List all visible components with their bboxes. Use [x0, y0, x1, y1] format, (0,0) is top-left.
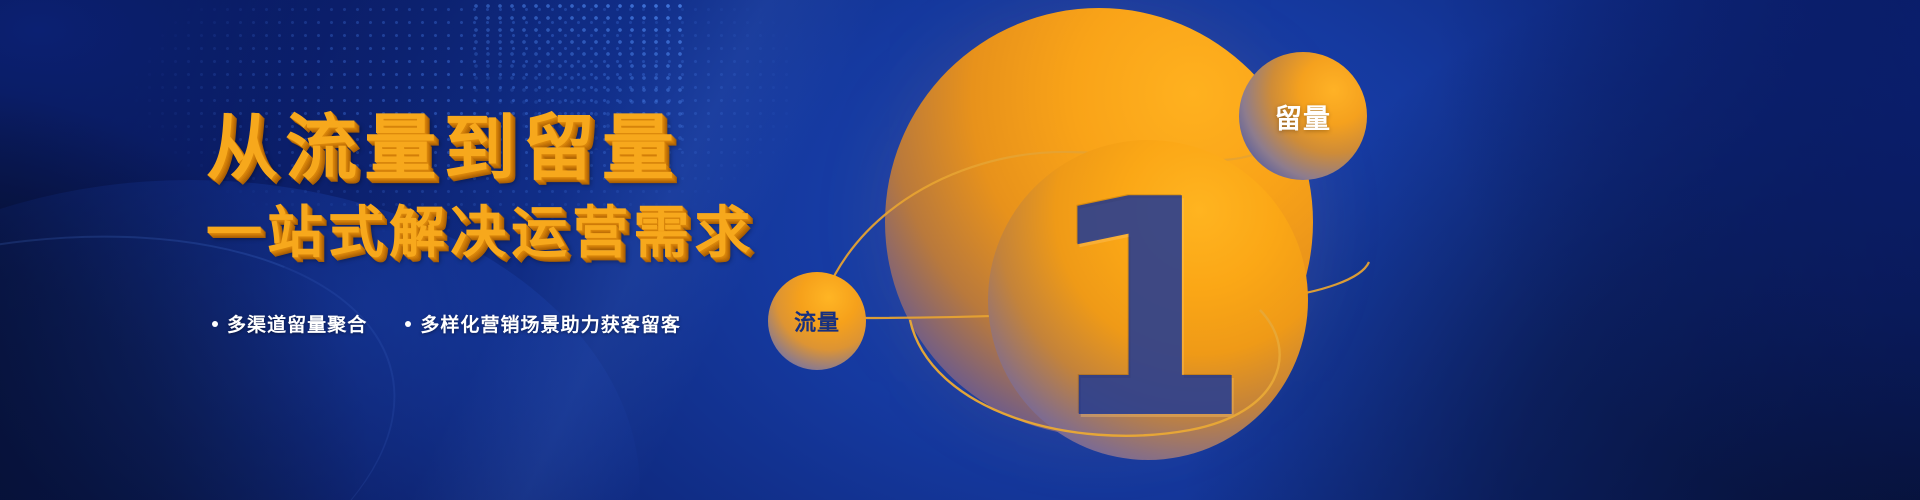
- feature-bullet-item: 多渠道留量聚合: [212, 310, 367, 337]
- feature-bullet-label: 多渠道留量聚合: [227, 310, 367, 337]
- sphere-retention-label: 留量: [1239, 52, 1367, 180]
- sphere-traffic-label: 流量: [768, 272, 866, 370]
- feature-bullet-label: 多样化营销场景助力获客留客: [420, 310, 681, 337]
- promo-banner: 从流量到留量 一站式解决运营需求 多渠道留量聚合 多样化营销场景助力获客留客: [0, 0, 1920, 500]
- bullet-dot-icon: [212, 321, 218, 327]
- hero-numeral: 1: [988, 140, 1308, 460]
- feature-bullet-item: 多样化营销场景助力获客留客: [405, 310, 681, 337]
- hero-illustration: 1 流量 留量: [740, 0, 1920, 500]
- bullet-dot-icon: [405, 321, 411, 327]
